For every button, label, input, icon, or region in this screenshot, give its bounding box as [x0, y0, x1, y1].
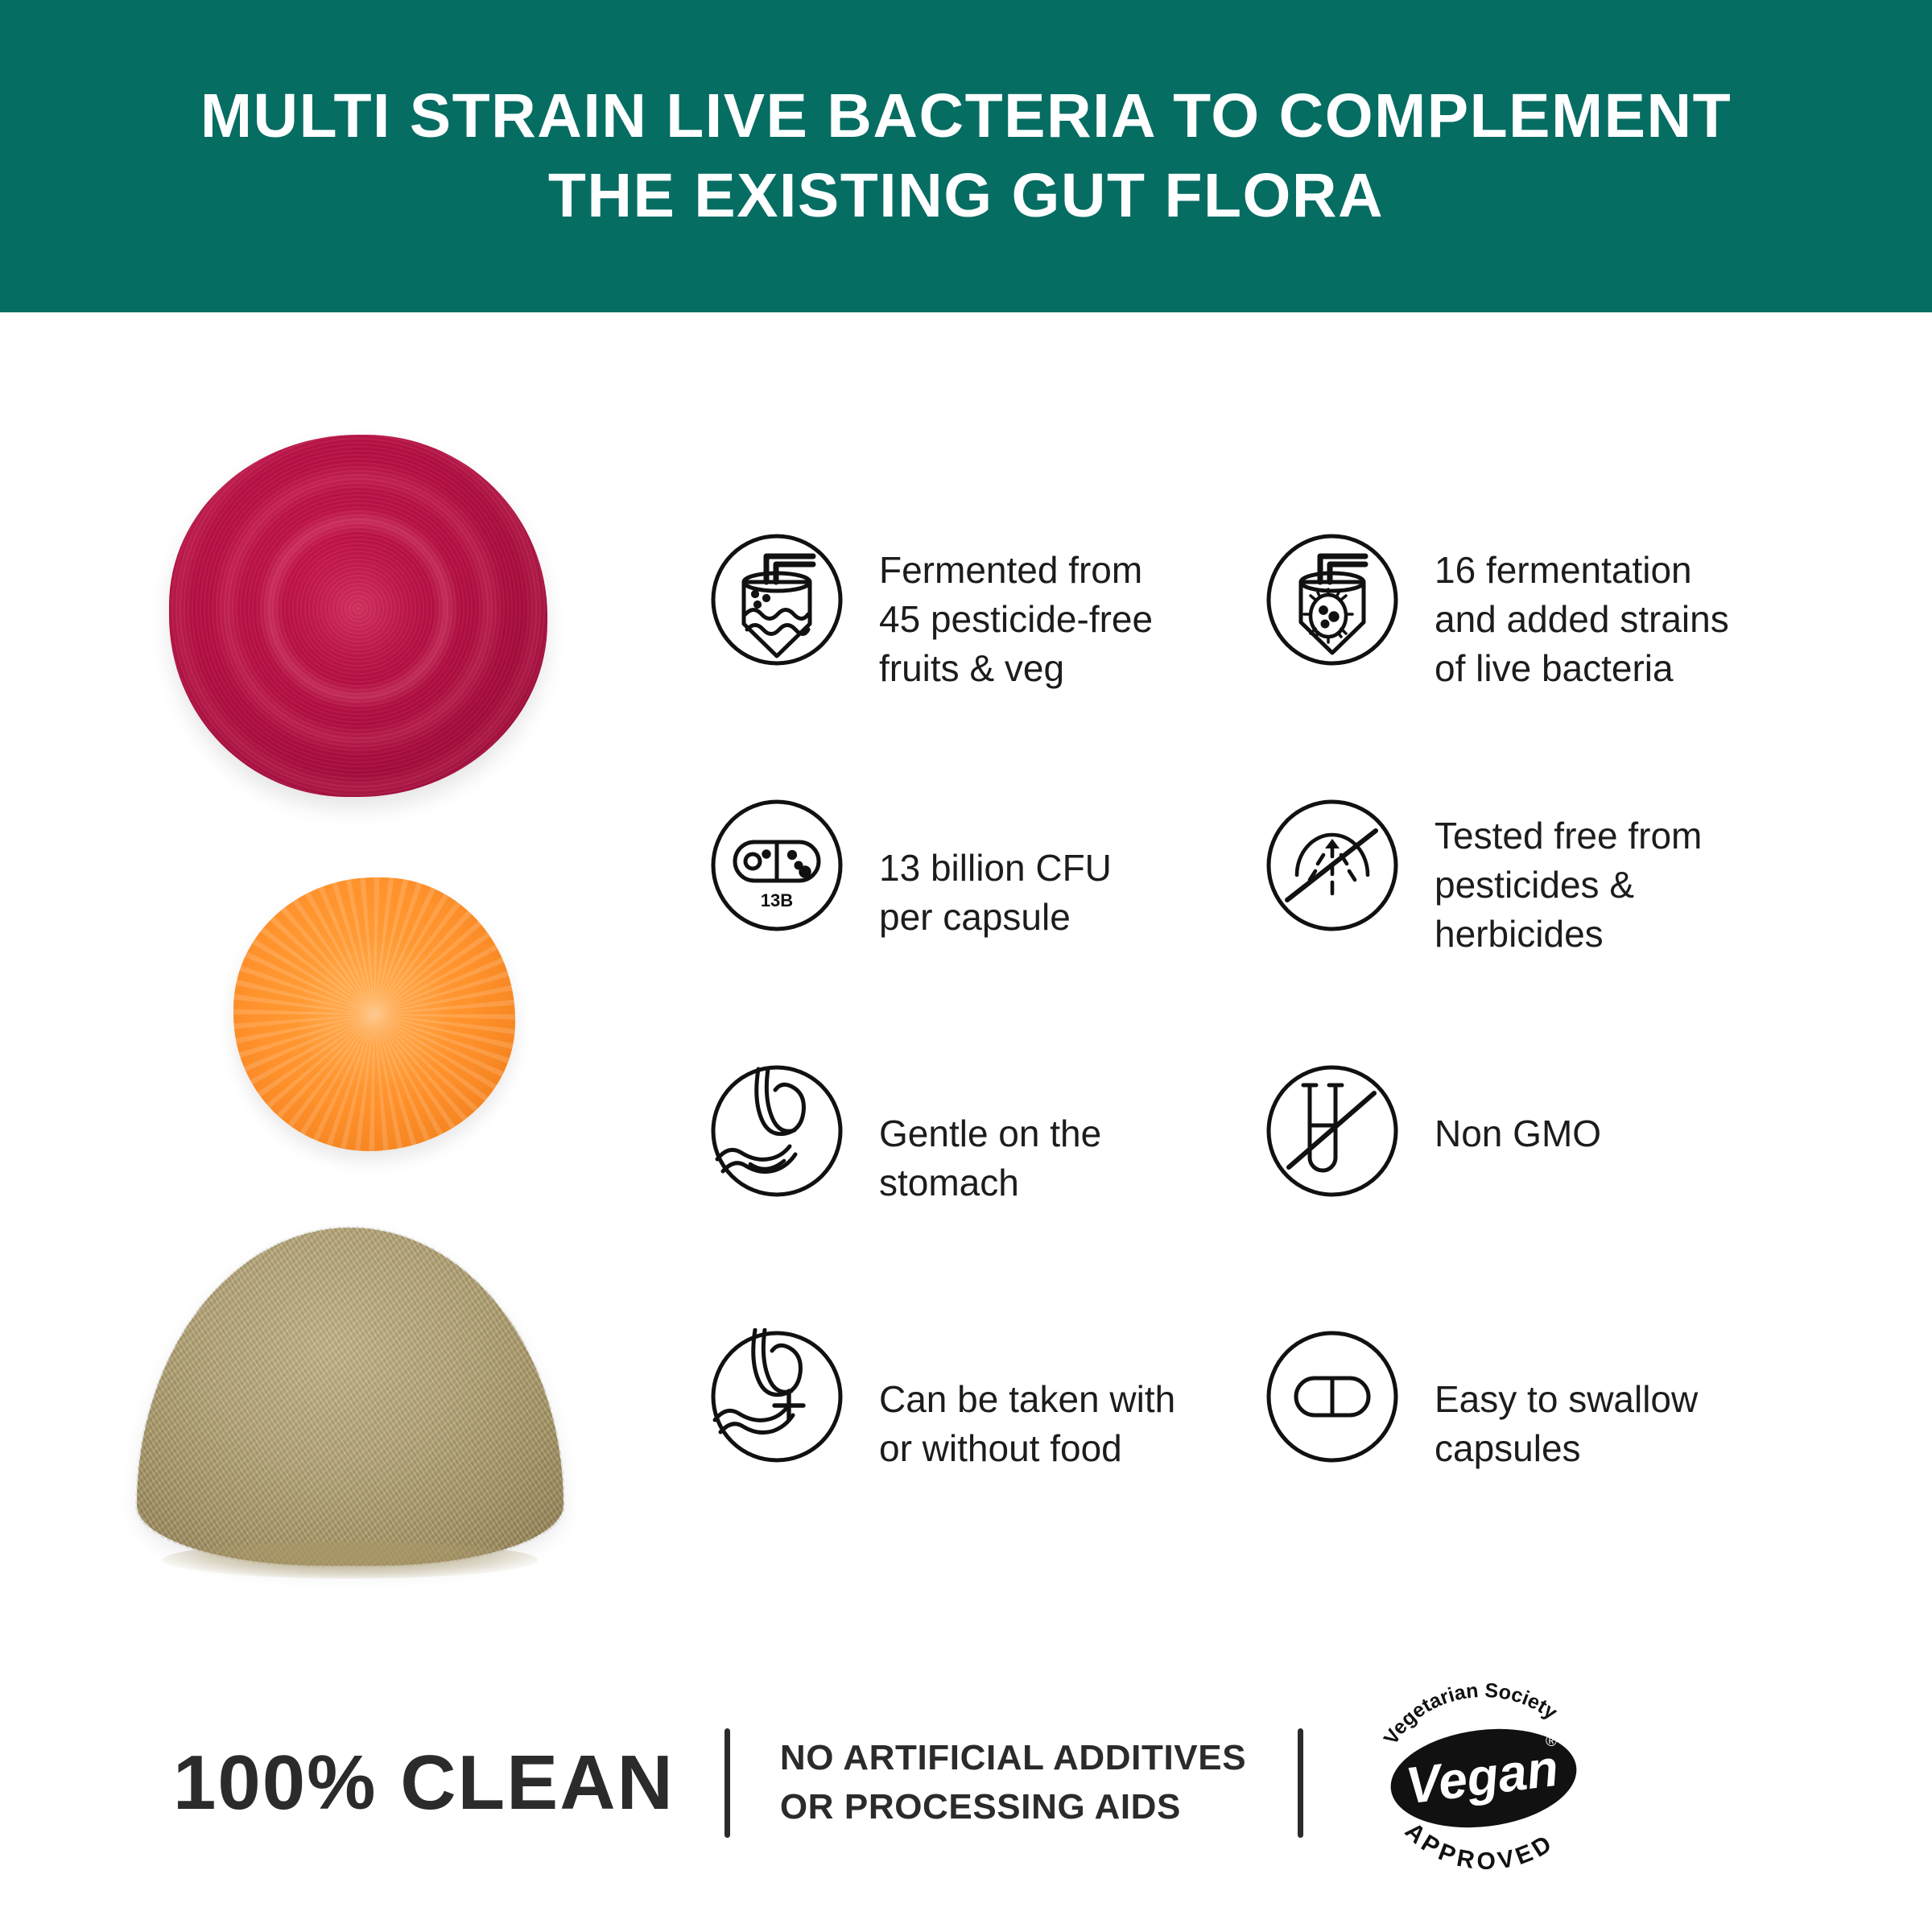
feature-label: Easy to swallow capsules: [1435, 1328, 1698, 1473]
no-additives-text: NO ARTIFICIAL ADDITIVES OR PROCESSING AI…: [780, 1734, 1246, 1831]
clean-claim-text: 100% CLEAN: [173, 1739, 675, 1827]
capsule-cfu-icon: 13B: [708, 797, 845, 934]
feature-label: Gentle on the stomach: [879, 1063, 1101, 1207]
feature-item-fermented: Fermented from 45 pesticide-free fruits …: [708, 531, 1264, 797]
footer-divider-1: [724, 1728, 730, 1838]
capsule-icon: [1264, 1328, 1401, 1465]
footer-bar: 100% CLEAN NO ARTIFICIAL ADDITIVES OR PR…: [0, 1670, 1932, 1896]
feature-item-cfu: 13B 13 billion CFU per capsule: [708, 797, 1264, 1063]
no-pesticide-spray-icon: [1264, 797, 1401, 934]
stomach-icon: [708, 1063, 845, 1199]
feature-item-gentle: Gentle on the stomach: [708, 1063, 1264, 1328]
infographic-page: MULTI STRAIN LIVE BACTERIA TO COMPLEMENT…: [0, 0, 1932, 1932]
stomach-plus-icon: [708, 1328, 845, 1465]
feature-label: Can be taken with or without food: [879, 1328, 1175, 1473]
beetroot-slice-image: [169, 435, 547, 797]
bacteria-cup-icon: [1264, 531, 1401, 668]
page-title: MULTI STRAIN LIVE BACTERIA TO COMPLEMENT…: [137, 76, 1795, 235]
registered-mark-icon: ®: [1546, 1733, 1557, 1750]
header-banner: MULTI STRAIN LIVE BACTERIA TO COMPLEMENT…: [0, 0, 1932, 312]
no-test-tube-icon: [1264, 1063, 1401, 1199]
produce-image-column: [121, 346, 684, 1602]
feature-label: Fermented from 45 pesticide-free fruits …: [879, 531, 1153, 694]
powder-pile-image: [137, 1228, 563, 1566]
feature-item-non-gmo: Non GMO: [1264, 1063, 1868, 1328]
carrot-slice-image: [233, 877, 515, 1151]
feature-label: Non GMO: [1435, 1063, 1601, 1158]
feature-grid: Fermented from 45 pesticide-free fruits …: [708, 531, 1868, 1594]
vegan-approved-badge: Vegetarian Society Vegan ® APPROVED: [1361, 1677, 1603, 1890]
feature-label: 13 billion CFU per capsule: [879, 797, 1112, 942]
fermented-cup-icon: [708, 531, 845, 668]
feature-item-strains: 16 fermentation and added strains of liv…: [1264, 531, 1868, 797]
footer-divider-2: [1298, 1728, 1303, 1838]
feature-label: Tested free from pesticides & herbicides: [1435, 797, 1702, 960]
feature-item-with-or-without-food: Can be taken with or without food: [708, 1328, 1264, 1594]
feature-item-pesticide-free: Tested free from pesticides & herbicides: [1264, 797, 1868, 1063]
feature-item-easy-swallow: Easy to swallow capsules: [1264, 1328, 1868, 1594]
feature-label: 16 fermentation and added strains of liv…: [1435, 531, 1729, 694]
capsule-cfu-badge-text: 13B: [761, 890, 793, 910]
